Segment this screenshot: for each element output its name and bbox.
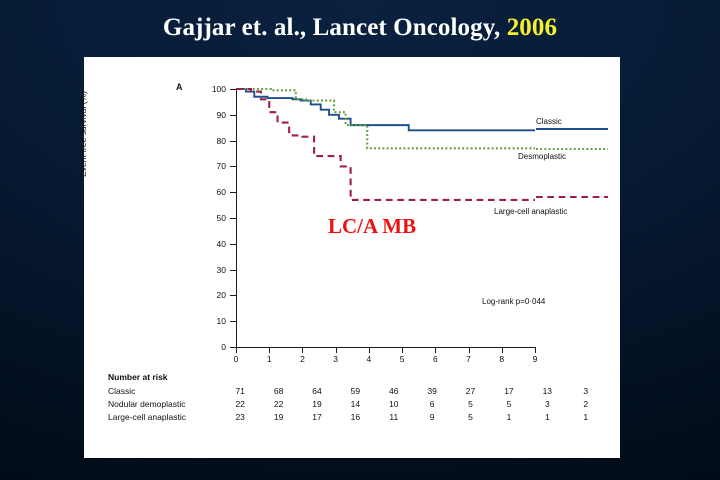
risk-cell: 6: [413, 398, 451, 411]
risk-cell: 5: [451, 398, 489, 411]
number-at-risk-block: Number at risk Classic716864594639271713…: [108, 372, 608, 424]
slide-title-year: 2006: [507, 14, 557, 41]
risk-cell: 2: [567, 398, 605, 411]
risk-cell: 17: [298, 411, 336, 424]
table-row: Classic7168645946392717133: [108, 385, 605, 398]
legend-label-classic: Classic: [536, 117, 562, 126]
annotation-lca-mb: LC/A MB: [328, 214, 416, 239]
slide-title-text: Gajjar et. al., Lancet Oncology,: [163, 14, 507, 41]
risk-cell: 1: [567, 411, 605, 424]
risk-cell: 1: [528, 411, 566, 424]
risk-cell: 68: [259, 385, 297, 398]
risk-cell: 27: [451, 385, 489, 398]
risk-cell: 3: [528, 398, 566, 411]
risk-cell: 5: [451, 411, 489, 424]
risk-cell: 64: [298, 385, 336, 398]
curve-large-cell-anaplastic: [236, 89, 535, 200]
risk-cell: 3: [567, 385, 605, 398]
risk-cell: 9: [413, 411, 451, 424]
figure-panel: A Event-free survival (%) 01020304050607…: [84, 57, 620, 458]
risk-cell: 46: [375, 385, 413, 398]
risk-row-label: Classic: [108, 385, 221, 398]
risk-cell: 59: [336, 385, 374, 398]
risk-cell: 14: [336, 398, 374, 411]
legend-label-desmoplastic: Desmoplastic: [518, 152, 566, 161]
risk-cell: 39: [413, 385, 451, 398]
table-row: Large-cell anaplastic231917161195111: [108, 411, 605, 424]
risk-row-label: Nodular demoplastic: [108, 398, 221, 411]
risk-cell: 19: [298, 398, 336, 411]
risk-cell: 17: [490, 385, 528, 398]
slide-title: Gajjar et. al., Lancet Oncology, 2006: [0, 14, 720, 42]
log-rank-statistic: Log-rank p=0·044: [482, 297, 545, 306]
risk-cell: 23: [221, 411, 259, 424]
risk-cell: 13: [528, 385, 566, 398]
risk-cell: 22: [259, 398, 297, 411]
number-at-risk-table: Classic7168645946392717133Nodular demopl…: [108, 385, 605, 424]
slide-background: Gajjar et. al., Lancet Oncology, 2006 A …: [0, 0, 720, 480]
risk-cell: 22: [221, 398, 259, 411]
table-row: Nodular demoplastic222219141065532: [108, 398, 605, 411]
curve-classic: [236, 89, 535, 130]
risk-cell: 71: [221, 385, 259, 398]
risk-cell: 5: [490, 398, 528, 411]
risk-cell: 16: [336, 411, 374, 424]
risk-cell: 11: [375, 411, 413, 424]
risk-cell: 19: [259, 411, 297, 424]
legend-label-large-cell-anaplastic: Large-cell anaplastic: [494, 207, 567, 216]
risk-cell: 1: [490, 411, 528, 424]
number-at-risk-title: Number at risk: [108, 372, 608, 382]
risk-cell: 10: [375, 398, 413, 411]
risk-row-label: Large-cell anaplastic: [108, 411, 221, 424]
